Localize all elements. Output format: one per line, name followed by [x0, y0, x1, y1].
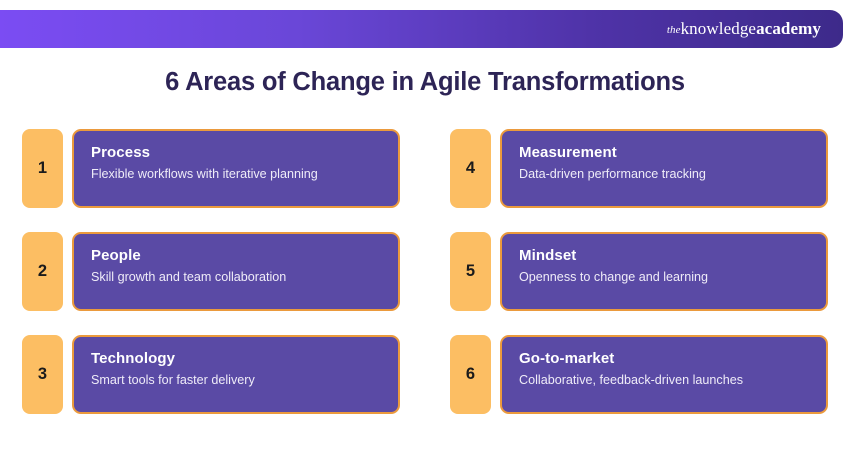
area-card: People Skill growth and team collaborati…	[72, 232, 400, 311]
area-item-6: 6 Go-to-market Collaborative, feedback-d…	[450, 335, 828, 414]
area-card-description: Data-driven performance tracking	[519, 168, 826, 182]
area-item-1: 1 Process Flexible workflows with iterat…	[22, 129, 400, 208]
area-number-badge: 3	[22, 335, 63, 414]
area-card-title: Go-to-market	[519, 351, 826, 367]
area-item-2: 2 People Skill growth and team collabora…	[22, 232, 400, 311]
area-card: Technology Smart tools for faster delive…	[72, 335, 400, 414]
area-card-description: Openness to change and learning	[519, 271, 826, 285]
area-card-title: Measurement	[519, 145, 826, 161]
area-card: Process Flexible workflows with iterativ…	[72, 129, 400, 208]
area-card-description: Smart tools for faster delivery	[91, 374, 398, 388]
area-card: Mindset Openness to change and learning	[500, 232, 828, 311]
area-card-title: Mindset	[519, 248, 826, 264]
area-item-3: 3 Technology Smart tools for faster deli…	[22, 335, 400, 414]
area-item-5: 5 Mindset Openness to change and learnin…	[450, 232, 828, 311]
brand-logo-the: the	[667, 24, 681, 36]
area-card-title: People	[91, 248, 398, 264]
brand-logo: theknowledgeacademy	[667, 19, 821, 39]
area-card-title: Technology	[91, 351, 398, 367]
area-card: Go-to-market Collaborative, feedback-dri…	[500, 335, 828, 414]
page-title: 6 Areas of Change in Agile Transformatio…	[0, 68, 850, 97]
brand-logo-academy: academy	[756, 19, 821, 38]
area-number-badge: 5	[450, 232, 491, 311]
header-band: theknowledgeacademy	[0, 10, 843, 48]
area-number-badge: 4	[450, 129, 491, 208]
area-number-badge: 6	[450, 335, 491, 414]
area-item-4: 4 Measurement Data-driven performance tr…	[450, 129, 828, 208]
area-card-description: Collaborative, feedback-driven launches	[519, 374, 826, 388]
areas-grid: 1 Process Flexible workflows with iterat…	[22, 129, 828, 414]
area-number-badge: 2	[22, 232, 63, 311]
area-card: Measurement Data-driven performance trac…	[500, 129, 828, 208]
area-card-title: Process	[91, 145, 398, 161]
area-card-description: Flexible workflows with iterative planni…	[91, 168, 398, 182]
area-card-description: Skill growth and team collaboration	[91, 271, 398, 285]
area-number-badge: 1	[22, 129, 63, 208]
brand-logo-knowledge: knowledge	[681, 19, 757, 38]
